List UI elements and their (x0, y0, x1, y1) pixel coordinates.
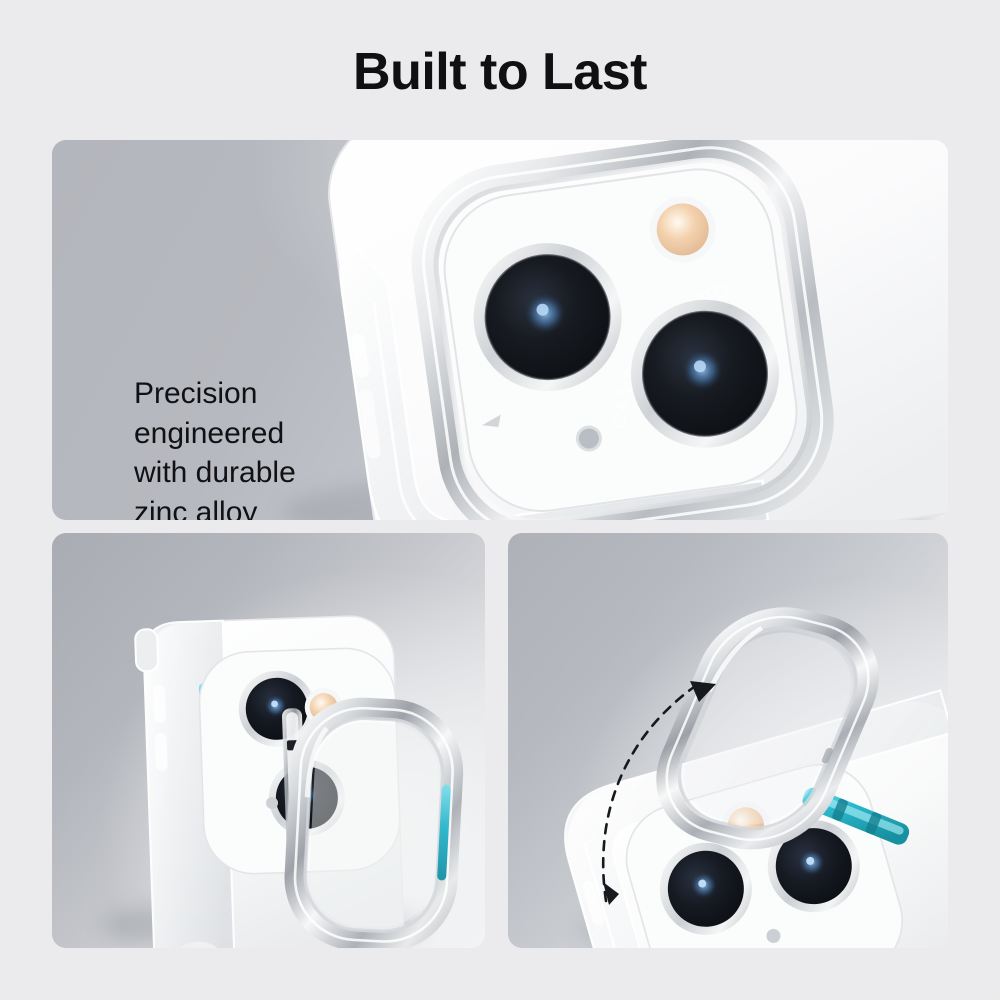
feature-panel-durability: Tested to withstand 3,000 uses (508, 533, 948, 948)
product-feature-graphic: Built to Last (0, 0, 1000, 1000)
hinged-ring-open-illustration (52, 533, 485, 948)
ring-upright-rotation-illustration (508, 533, 948, 948)
rotation-arrow-icon (603, 681, 716, 905)
camera-guard-engraving: CAMERA GUARD (591, 279, 750, 433)
feature-panel-easy-to-open: Easy to open (52, 533, 485, 948)
feature-panel-precision: CAMERA GUARD (52, 140, 948, 520)
page-title: Built to Last (0, 44, 1000, 101)
caption-precision: Precision engineered with durable zinc a… (134, 374, 384, 520)
